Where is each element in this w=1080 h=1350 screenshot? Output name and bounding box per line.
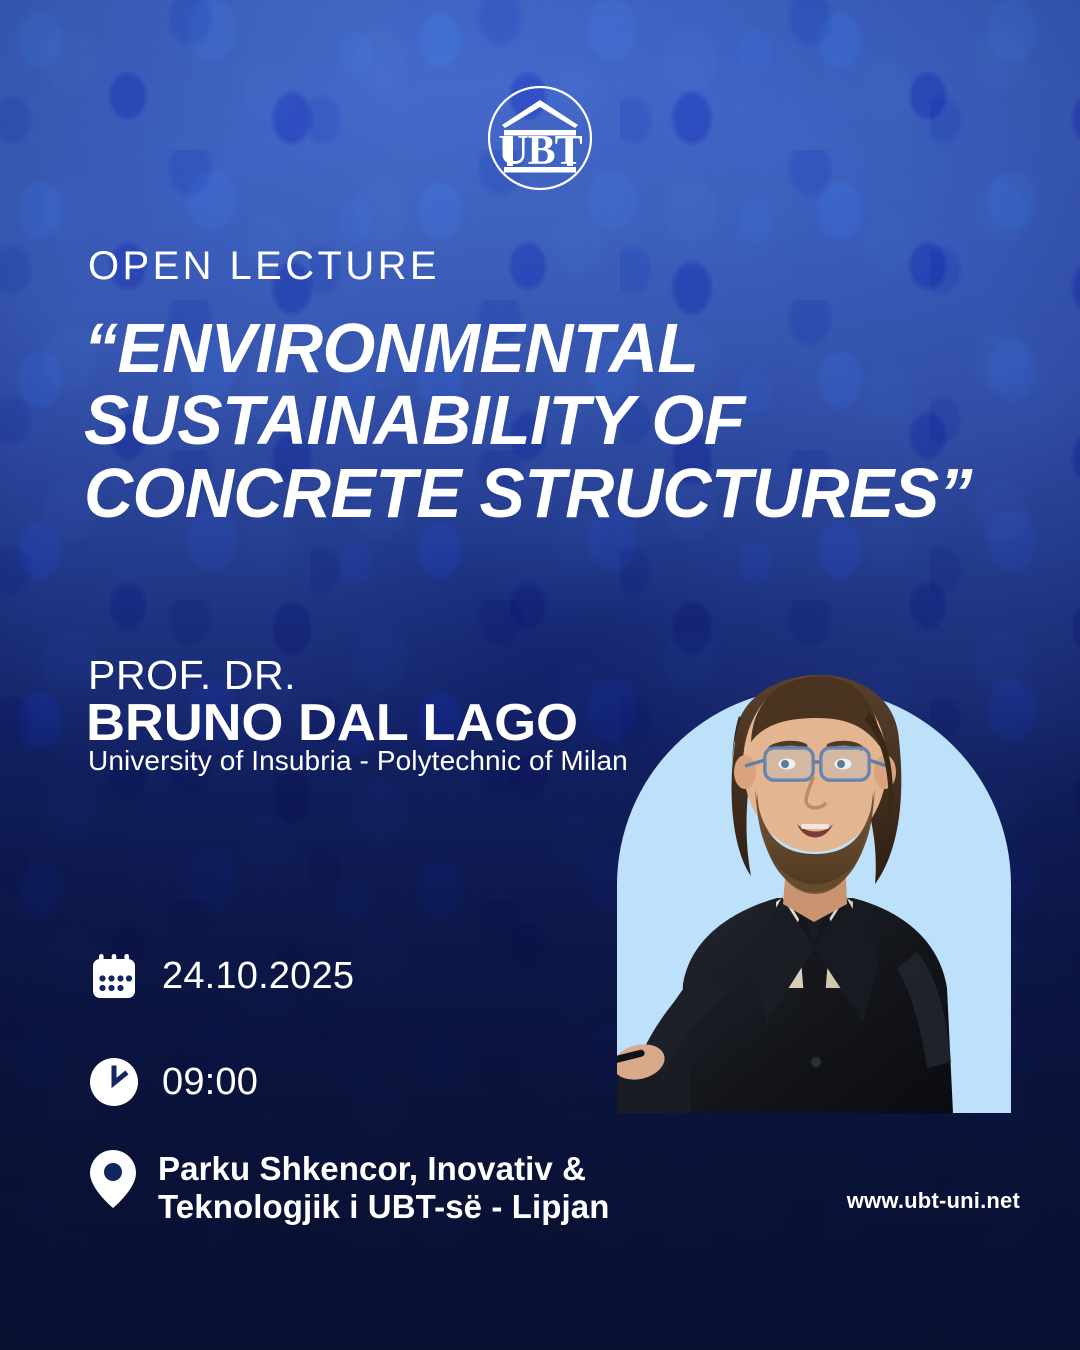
event-poster: UBT OPEN LECTURE “ENVIRONMENTAL SUSTAINA… bbox=[0, 0, 1080, 1350]
event-location-line-2: Teknologjik i UBT-së - Lipjan bbox=[158, 1188, 610, 1226]
title-line-1: “ENVIRONMENTAL bbox=[84, 312, 1015, 384]
title-line-2: SUSTAINABILITY OF bbox=[84, 384, 1015, 456]
map-pin-icon bbox=[88, 1148, 138, 1210]
ubt-logo-icon: UBT bbox=[480, 78, 600, 198]
speaker-prefix: PROF. DR. bbox=[88, 655, 296, 696]
speaker-name: BRUNO DAL LAGO bbox=[86, 697, 578, 749]
page-title: “ENVIRONMENTAL SUSTAINABILITY OF CONCRET… bbox=[84, 312, 1015, 529]
kicker-label: OPEN LECTURE bbox=[88, 246, 440, 286]
event-time-row: 09:00 bbox=[88, 1056, 258, 1108]
event-date-row: 24.10.2025 bbox=[88, 950, 354, 1002]
event-time-value: 09:00 bbox=[162, 1063, 258, 1101]
event-location-value: Parku Shkencor, Inovativ & Teknologjik i… bbox=[158, 1148, 610, 1226]
svg-text:UBT: UBT bbox=[498, 128, 582, 174]
speaker-portrait-illustration bbox=[617, 592, 1011, 1113]
speaker-portrait bbox=[617, 592, 1011, 1113]
ubt-logo: UBT bbox=[480, 78, 600, 198]
speaker-affiliation: University of Insubria - Polytechnic of … bbox=[88, 746, 628, 777]
title-line-3: CONCRETE STRUCTURES” bbox=[84, 457, 1015, 529]
event-location-row: Parku Shkencor, Inovativ & Teknologjik i… bbox=[88, 1148, 610, 1226]
speaker-photo-block bbox=[617, 592, 1011, 1113]
calendar-icon bbox=[88, 950, 140, 1002]
website-url[interactable]: www.ubt-uni.net bbox=[847, 1188, 1020, 1214]
event-date-value: 24.10.2025 bbox=[162, 957, 354, 995]
event-location-line-1: Parku Shkencor, Inovativ & bbox=[158, 1150, 610, 1188]
clock-icon bbox=[88, 1056, 140, 1108]
